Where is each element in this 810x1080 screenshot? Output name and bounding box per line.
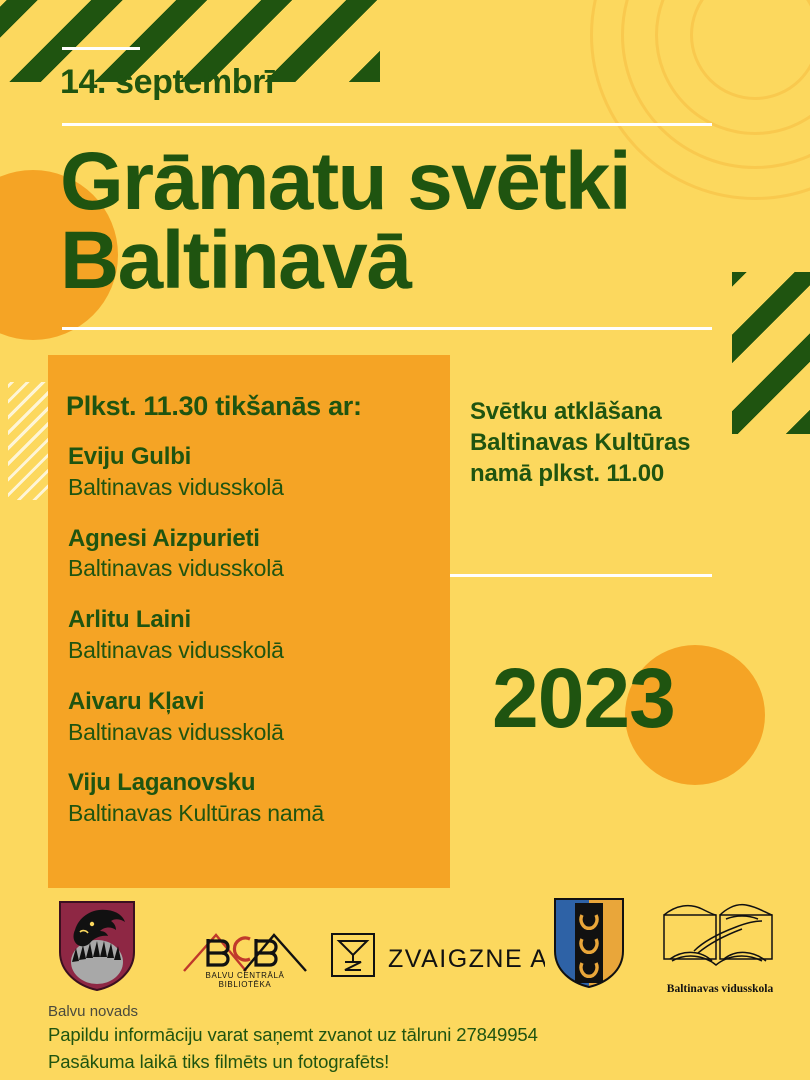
baltinavas-vidusskola-caption: Baltinavas vidusskola [650,983,790,995]
opening-line-2: Baltinavas Kultūras [470,427,760,458]
divider-right-column [450,574,712,577]
speaker-place: Baltinavas Kultūras namā [68,799,440,829]
speaker-name: Arlitu Laini [68,605,440,636]
footer-organization: Balvu novads [48,1003,778,1022]
speaker-name: Agnesi Aizpurieti [68,524,440,555]
speaker-name: Eviju Gulbi [68,442,440,473]
divider-under-title [62,327,712,330]
balvu-novads-coat-of-arms-icon [58,900,136,992]
title-line-2: Baltinavā [60,222,760,301]
speaker-name: Viju Laganovsku [68,768,440,799]
event-date: 14. septembrī [60,63,274,102]
speaker-name: Aivaru Kļavi [68,687,440,718]
schedule-panel-heading: Plkst. 11.30 tikšanās ar: [66,391,362,422]
list-item: Viju Laganovsku Baltinavas Kultūras namā [68,768,440,829]
footer-notice-line: Pasākuma laikā tiks filmēts un fotografē… [48,1049,778,1076]
opening-line-1: Svētku atklāšana [470,396,760,427]
poster-canvas: 14. septembrī Grāmatu svētki Baltinavā P… [0,0,810,1080]
footer-contact-line: Papildu informāciju varat saņemt zvanot … [48,1022,778,1049]
divider-short-top [62,47,140,50]
speaker-list: Eviju Gulbi Baltinavas vidusskolā Agnesi… [68,442,440,850]
balvu-centrala-biblioteka-logo: BALVU CENTRĀLĀ BIBLIOTĒKA [180,925,310,987]
event-year: 2023 [492,650,675,747]
svg-text:ZVAIGZNE ABC: ZVAIGZNE ABC [388,945,545,973]
zvaigzne-abc-logo: ZVAIGZNE ABC [330,931,545,979]
speaker-place: Baltinavas vidusskolā [68,473,440,503]
footer: Balvu novads Papildu informāciju varat s… [48,1003,778,1075]
speaker-place: Baltinavas vidusskolā [68,718,440,748]
baltinavas-vidusskola-logo: Baltinavas vidusskola [650,901,790,993]
schedule-panel: Plkst. 11.30 tikšanās ar: Eviju Gulbi Ba… [48,355,450,888]
opening-info: Svētku atklāšana Baltinavas Kultūras nam… [470,396,760,490]
logo-row: BALVU CENTRĀLĀ BIBLIOTĒKA ZVAIGZNE ABC [0,895,810,1005]
list-item: Aivaru Kļavi Baltinavas vidusskolā [68,687,440,748]
baltinava-coat-of-arms-icon [553,897,625,989]
list-item: Agnesi Aizpurieti Baltinavas vidusskolā [68,524,440,585]
bcb-logo-caption: BALVU CENTRĀLĀ BIBLIOTĒKA [180,971,310,989]
hairline-stripes-left-decor [8,382,52,500]
speaker-place: Baltinavas vidusskolā [68,554,440,584]
opening-line-3: namā plkst. 11.00 [470,458,760,489]
speaker-place: Baltinavas vidusskolā [68,636,440,666]
title-line-1: Grāmatu svētki [60,143,760,222]
page-title: Grāmatu svētki Baltinavā [60,143,760,300]
list-item: Eviju Gulbi Baltinavas vidusskolā [68,442,440,503]
list-item: Arlitu Laini Baltinavas vidusskolā [68,605,440,666]
divider-under-date [62,123,712,126]
